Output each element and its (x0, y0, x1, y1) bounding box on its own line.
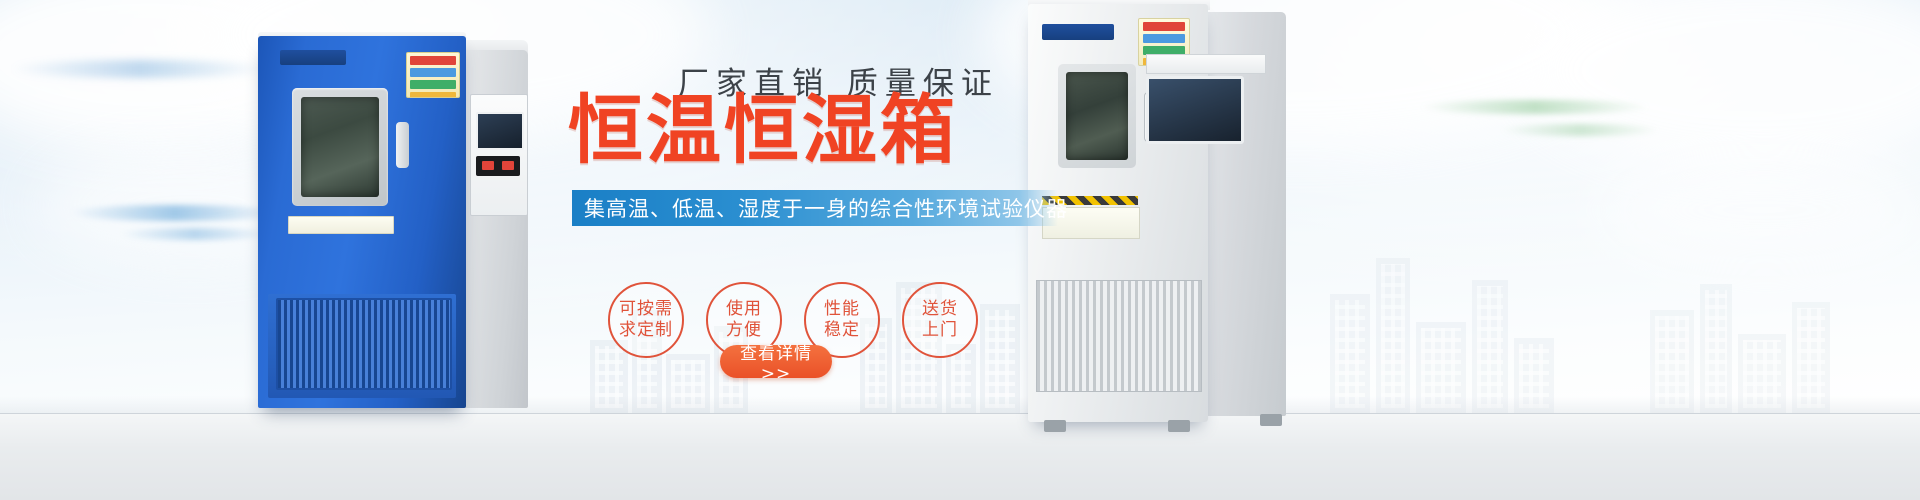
banner-headline: 恒温恒湿箱 (568, 88, 958, 172)
feature-badge-line2: 稳定 (824, 320, 860, 341)
cloud-decoration (1600, 150, 1920, 270)
view-details-button[interactable]: 查看详情 >> (720, 345, 832, 378)
feature-badge-line1: 使用 (726, 299, 762, 320)
vent-grille-left (276, 298, 452, 390)
feature-badge[interactable]: 送货 上门 (902, 282, 978, 358)
model-nameplate-right (1146, 54, 1266, 74)
feature-badge-line2: 方便 (726, 320, 762, 341)
product-left-climate-chamber (258, 36, 526, 408)
door-label-left (288, 216, 394, 234)
banner-subtitle: 集高温、低温、湿度于一身的综合性环境试验仪器 (572, 193, 1068, 223)
control-screen-right (1146, 76, 1244, 144)
feature-badge-line1: 可按需 (619, 299, 673, 320)
door-handle-left (396, 122, 409, 168)
feature-badge-line2: 上门 (922, 320, 958, 341)
banner-subtitle-bar: 集高温、低温、湿度于一身的综合性环境试验仪器 (572, 190, 1058, 226)
feature-badge-line2: 求定制 (619, 320, 673, 341)
cloud-decoration (1520, 0, 1920, 170)
warning-sticker-left (406, 52, 460, 98)
promo-banner: 厂家直销 质量保证 恒温恒湿箱 集高温、低温、湿度于一身的综合性环境试验仪器 可… (0, 0, 1920, 500)
digital-readout-left (476, 156, 520, 176)
chamber-door-window-left (292, 88, 388, 206)
city-skyline-decoration (1330, 244, 1560, 414)
feature-badge-line1: 性能 (824, 299, 860, 320)
feature-badge-line1: 送货 (922, 299, 958, 320)
brand-plate-left (280, 50, 346, 65)
control-screen-left (476, 112, 524, 150)
city-skyline-decoration (1650, 274, 1850, 414)
feature-badge[interactable]: 可按需 求定制 (608, 282, 684, 358)
banner-copy-block: 厂家直销 质量保证 恒温恒湿箱 集高温、低温、湿度于一身的综合性环境试验仪器 可… (560, 0, 1080, 500)
